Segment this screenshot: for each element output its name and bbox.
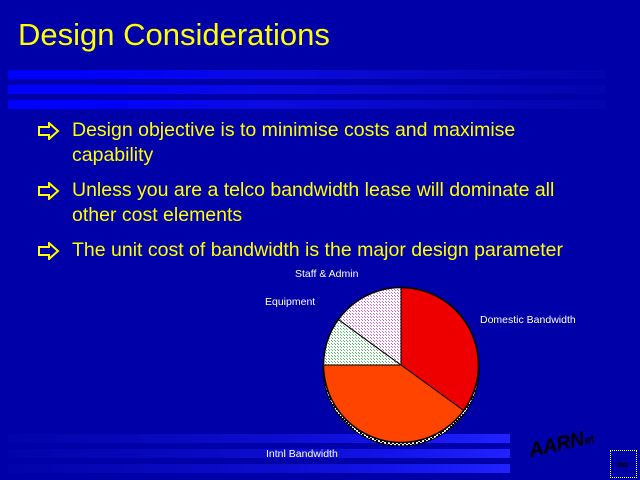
pie-label-domestic-bandwidth: Domestic Bandwidth bbox=[480, 314, 576, 326]
decorative-bar-top-2 bbox=[8, 85, 606, 94]
pie-label-intnl-bandwidth: Intnl Bandwidth bbox=[266, 448, 338, 460]
decorative-bar-top-1 bbox=[8, 70, 606, 79]
bullet-text: Design objective is to minimise costs an… bbox=[72, 118, 592, 168]
bullet-text: The unit cost of bandwidth is the major … bbox=[72, 238, 592, 263]
pie-label-equipment: Equipment bbox=[265, 296, 315, 308]
slide-canvas: Design Considerations Design objective i… bbox=[0, 0, 640, 480]
pie-svg bbox=[320, 284, 482, 446]
right-block-arrow-icon bbox=[38, 182, 60, 200]
decorative-bar-top-3 bbox=[8, 100, 606, 109]
page-title: Design Considerations bbox=[18, 16, 330, 54]
bullet-list: Design objective is to minimise costs an… bbox=[38, 118, 618, 273]
page-number-placeholder: xxx bbox=[610, 450, 637, 478]
logo-main-text: AARN bbox=[527, 428, 587, 463]
pie-label-staff-admin: Staff & Admin bbox=[295, 268, 358, 280]
logo-suffix-text: et bbox=[583, 433, 595, 447]
right-block-arrow-icon bbox=[38, 122, 60, 140]
bullet-item-3: The unit cost of bandwidth is the major … bbox=[38, 238, 618, 263]
right-block-arrow-icon bbox=[38, 242, 60, 260]
bullet-text: Unless you are a telco bandwidth lease w… bbox=[72, 178, 592, 228]
pie-graphic bbox=[320, 284, 482, 446]
bullet-item-2: Unless you are a telco bandwidth lease w… bbox=[38, 178, 618, 228]
bullet-item-1: Design objective is to minimise costs an… bbox=[38, 118, 618, 168]
aarnet-logo: AARN et bbox=[532, 430, 604, 464]
page-number-text: xxx bbox=[617, 460, 627, 469]
